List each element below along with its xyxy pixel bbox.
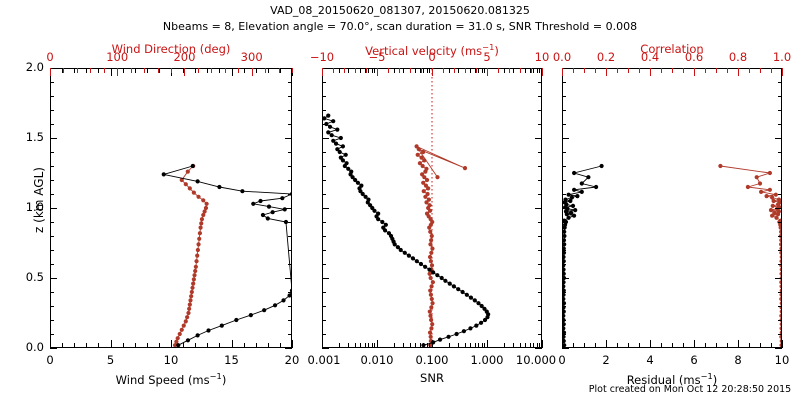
panel1-wind-speed-minor-tick-top [123, 68, 124, 73]
panel2-w-tick-label: −10 [310, 50, 334, 64]
y-minor-tick [322, 180, 326, 181]
data-point [344, 161, 348, 165]
panel2-snr-minor-tick [365, 343, 366, 348]
panel2-snr-major-tick [487, 340, 488, 348]
y-minor-tick [562, 110, 566, 111]
panel1-bottom-axis-label: Wind Speed (ms−1) [116, 371, 227, 387]
y-major-tick [775, 138, 782, 139]
y-minor-tick [778, 110, 782, 111]
data-point [396, 245, 400, 249]
panel2-snr-major-tick [432, 340, 433, 348]
panel1-wind-speed-minor-tick [219, 343, 220, 348]
panel1-wind-dir-tick-label: 200 [173, 50, 195, 64]
y-minor-tick [322, 306, 326, 307]
y-minor-tick [50, 292, 54, 293]
data-point [446, 335, 450, 339]
data-point [563, 310, 566, 314]
panel2-snr-minor-tick [520, 343, 521, 348]
panel1-wind-speed-minor-tick [135, 343, 136, 348]
panel1-wind-dir-major-tick [117, 68, 118, 76]
panel1-top-axis-label: Wind Direction (deg) [112, 42, 231, 56]
data-point [563, 322, 566, 326]
panel2-w-minor-tick [443, 68, 444, 73]
y-minor-tick [778, 166, 782, 167]
y-minor-tick [538, 166, 542, 167]
data-point [563, 242, 566, 246]
data-point [376, 212, 380, 216]
data-point [448, 282, 452, 286]
panel1-wind-dir-major-tick [50, 68, 51, 76]
figure-subtitle: Nbeams = 8, Elevation angle = 70.0°, sca… [163, 20, 637, 33]
panel1-wind-dir-minor-tick [171, 68, 172, 73]
panel1-wind-speed-minor-tick-top [147, 68, 148, 73]
panel1-wind-speed-tick-label: 5 [107, 353, 114, 367]
y-minor-tick [538, 236, 542, 237]
data-point [411, 256, 415, 260]
panel2-snr-minor-tick-top [484, 68, 485, 73]
data-point [468, 326, 472, 330]
panel2-snr-minor-tick-top [504, 68, 505, 73]
data-point [206, 328, 210, 332]
y-minor-tick [288, 264, 292, 265]
panel3-correlation-minor-tick [771, 68, 772, 73]
data-point [431, 270, 435, 274]
y-major-tick [50, 68, 57, 69]
panel2-snr-minor-tick [394, 343, 395, 348]
panel2-snr-tick-label: 10.000 [516, 353, 556, 367]
y-minor-tick [538, 250, 542, 251]
y-minor-tick [538, 82, 542, 83]
y-tick-label: 1.0 [0, 200, 44, 214]
panel2-snr-minor-tick-top [470, 68, 471, 73]
panel2-snr-minor-tick [530, 343, 531, 348]
y-major-tick [775, 278, 782, 279]
panel2-w-tick-label: 5 [483, 50, 490, 64]
panel1-wind-speed-major-tick [292, 340, 293, 348]
data-point [196, 179, 200, 183]
panel1-wind-dir-minor-tick [292, 68, 293, 73]
panel1-wind-dir-minor-tick [198, 68, 199, 73]
data-point [403, 251, 407, 255]
panel2-w-major-tick [487, 68, 488, 76]
panel3-residual-minor-tick [683, 343, 684, 348]
data-point [435, 273, 439, 277]
y-minor-tick [562, 292, 566, 293]
panel3-correlation-major-tick [694, 68, 695, 76]
panel3-correlation-minor-tick [760, 68, 761, 73]
panel2-snr-minor-tick-top [458, 68, 459, 73]
y-minor-tick [50, 320, 54, 321]
panel3-residual-major-tick [738, 340, 739, 348]
panel2-w-major-tick [322, 68, 323, 76]
data-point [570, 195, 574, 199]
data-point [563, 272, 566, 276]
data-point [476, 301, 480, 305]
panel2-w-tick-label: 10 [535, 50, 550, 64]
y-minor-tick [538, 320, 542, 321]
y-major-tick [562, 68, 569, 69]
data-point [563, 343, 566, 347]
panel2-w-minor-tick [509, 68, 510, 73]
panel1-wind-dir-minor-tick [90, 68, 91, 73]
y-minor-tick [50, 110, 54, 111]
panel2-snr-minor-tick-top [394, 68, 395, 73]
y-minor-tick [562, 124, 566, 125]
data-point [563, 268, 566, 272]
panel1-wind-speed-minor-tick [256, 343, 257, 348]
y-minor-tick [562, 180, 566, 181]
data-point [251, 202, 255, 206]
panel2-w-minor-tick [421, 68, 422, 73]
y-minor-tick [50, 334, 54, 335]
y-minor-tick [288, 306, 292, 307]
data-point [427, 268, 431, 272]
panel3-residual-minor-tick [771, 343, 772, 348]
data-point [330, 133, 334, 137]
y-minor-tick [288, 222, 292, 223]
panel2-snr-minor-tick-top [533, 68, 534, 73]
panel3-residual-minor-tick [639, 343, 640, 348]
y-minor-tick [322, 124, 326, 125]
panel3-residual-minor-tick [595, 343, 596, 348]
panel1-wind-speed-major-tick [232, 340, 233, 348]
data-point [580, 181, 584, 185]
data-point [326, 130, 330, 134]
y-minor-tick [778, 292, 782, 293]
y-minor-tick [50, 96, 54, 97]
panel1-wind-speed-tick-label: 0 [46, 353, 53, 367]
panel2-snr-minor-tick [368, 343, 369, 348]
y-minor-tick [778, 124, 782, 125]
y-major-tick [562, 138, 569, 139]
y-minor-tick [288, 334, 292, 335]
panel2-w-minor-tick [454, 68, 455, 73]
panel2-snr-minor-tick-top [403, 68, 404, 73]
panel1-wind-speed-major-tick [171, 340, 172, 348]
y-minor-tick [538, 222, 542, 223]
data-point [443, 279, 447, 283]
panel3-residual-minor-tick [617, 343, 618, 348]
panel3-correlation-major-tick [606, 68, 607, 76]
panel2-snr-tick-label: 0.001 [308, 353, 341, 367]
panel3-residual-major-tick [562, 340, 563, 348]
data-point [563, 255, 566, 259]
y-minor-tick [538, 194, 542, 195]
panel2-snr-minor-tick [475, 343, 476, 348]
panel-residual [562, 68, 782, 348]
data-point [261, 213, 265, 217]
figure-title: VAD_08_20150620_081307, 20150620.081325 [270, 4, 530, 17]
panel1-wind-dir-minor-tick [225, 68, 226, 73]
panel3-correlation-minor-tick [573, 68, 574, 73]
panel3-correlation-minor-tick [749, 68, 750, 73]
panel1-wind-speed-minor-tick-top [207, 68, 208, 73]
y-tick-label: 0.0 [0, 340, 44, 354]
panel2-snr-minor-tick [449, 343, 450, 348]
data-point [469, 296, 473, 300]
panel1-wind-dir-minor-tick [131, 68, 132, 73]
panel2-w-major-tick [542, 68, 543, 76]
panel3-residual-tick-label: 6 [690, 353, 697, 367]
panel2-w-minor-tick [366, 68, 367, 73]
data-point [346, 167, 350, 171]
panel3-correlation-tick-label: 0.0 [553, 50, 571, 64]
data-point [281, 298, 285, 302]
data-point [341, 144, 345, 148]
panel1-wind-dir-minor-tick [144, 68, 145, 73]
panel2-w-minor-tick [388, 68, 389, 73]
panel1-wind-dir-minor-tick [77, 68, 78, 73]
data-point [220, 324, 224, 328]
panel1-wind-speed-minor-tick-top [219, 68, 220, 73]
panel2-snr-minor-tick [478, 343, 479, 348]
panel2-snr-minor-tick [374, 343, 375, 348]
y-minor-tick [562, 236, 566, 237]
data-point [594, 185, 598, 189]
panel-snr [322, 68, 542, 348]
panel1-wind-speed-minor-tick [74, 343, 75, 348]
y-minor-tick [778, 152, 782, 153]
y-minor-tick [538, 306, 542, 307]
panel3-correlation-minor-tick [727, 68, 728, 73]
panel1-wind-dir-minor-tick [158, 68, 159, 73]
panel2-snr-tick-label: 0.100 [416, 353, 449, 367]
y-major-tick [562, 208, 569, 209]
panel2-snr-minor-tick [482, 343, 483, 348]
y-major-tick [50, 208, 57, 209]
data-point [331, 119, 335, 123]
y-minor-tick [778, 250, 782, 251]
panel3-residual-minor-tick [628, 343, 629, 348]
y-major-tick [322, 348, 329, 349]
data-point [563, 280, 566, 284]
panel2-w-major-tick [432, 68, 433, 76]
panel2-snr-minor-tick [372, 343, 373, 348]
data-point [191, 164, 195, 168]
data-point [335, 128, 339, 132]
panel2-snr-minor-tick [427, 343, 428, 348]
panel2-snr-minor-tick [420, 343, 421, 348]
panel-wind [50, 68, 292, 348]
y-major-tick [775, 208, 782, 209]
panel3-residual-major-tick [694, 340, 695, 348]
y-minor-tick [288, 124, 292, 125]
y-minor-tick [50, 306, 54, 307]
data-point [339, 136, 343, 140]
y-minor-tick [288, 96, 292, 97]
y-minor-tick [562, 82, 566, 83]
panel2-w-minor-tick [399, 68, 400, 73]
panel3-correlation-minor-tick [672, 68, 673, 73]
y-minor-tick [322, 166, 326, 167]
panel1-wind-speed-minor-tick [280, 343, 281, 348]
panel2-w-minor-tick [410, 68, 411, 73]
y-minor-tick [778, 306, 782, 307]
y-minor-tick [288, 236, 292, 237]
panel3-residual-tick-label: 10 [775, 353, 790, 367]
data-point [580, 190, 584, 194]
panel1-wind-speed-minor-tick [159, 343, 160, 348]
panel2-snr-minor-tick-top [513, 68, 514, 73]
panel3-correlation-major-tick [738, 68, 739, 76]
y-minor-tick [322, 194, 326, 195]
y-minor-tick [562, 166, 566, 167]
panel2-snr-minor-tick [339, 343, 340, 348]
data-point [563, 314, 565, 318]
panel1-wind-speed-minor-tick [268, 343, 269, 348]
data-point [479, 321, 483, 325]
panel2-snr-major-tick [377, 340, 378, 348]
y-major-tick [50, 138, 57, 139]
data-point [384, 223, 388, 227]
panel3-correlation-tick-label: 0.2 [597, 50, 615, 64]
panel1-wind-speed-major-tick-top [111, 68, 112, 76]
panel3-residual-minor-tick [573, 343, 574, 348]
panel3-bottom-axis-label: Residual (ms−1) [627, 371, 718, 387]
panel2-snr-minor-tick-top [372, 68, 373, 73]
panel1-wind-dir-tick-label: 0 [46, 50, 53, 64]
panel3-correlation-minor-tick [661, 68, 662, 73]
data-point [462, 329, 466, 333]
panel2-snr-minor-tick [537, 343, 538, 348]
panel3-residual-major-tick [782, 340, 783, 348]
panel2-snr-tick-label: 0.010 [361, 353, 394, 367]
y-minor-tick [538, 292, 542, 293]
y-minor-tick [50, 180, 54, 181]
y-minor-tick [562, 264, 566, 265]
y-minor-tick [50, 250, 54, 251]
panel1-wind-speed-minor-tick [98, 343, 99, 348]
panel2-snr-tick-label: 1.000 [471, 353, 504, 367]
panel3-correlation-tick-label: 0.4 [641, 50, 659, 64]
panel1-wind-speed-minor-tick-top [135, 68, 136, 73]
panel2-snr-minor-tick [360, 343, 361, 348]
series-snr [323, 69, 541, 347]
data-point [423, 265, 427, 269]
data-point [407, 254, 411, 258]
panel2-snr-minor-tick-top [539, 68, 540, 73]
data-point [240, 189, 244, 193]
y-major-tick [285, 278, 292, 279]
y-minor-tick [288, 180, 292, 181]
vad-profile-figure: VAD_08_20150620_081307, 20150620.081325 … [0, 0, 800, 400]
y-minor-tick [778, 180, 782, 181]
data-point [335, 147, 339, 151]
panel3-residual-minor-tick [705, 343, 706, 348]
y-minor-tick [322, 82, 326, 83]
y-minor-tick [50, 82, 54, 83]
panel1-wind-speed-major-tick [50, 340, 51, 348]
panel1-wind-speed-minor-tick-top [256, 68, 257, 73]
panel1-wind-speed-minor-tick [147, 343, 148, 348]
panel1-wind-speed-minor-tick-top [74, 68, 75, 73]
panel1-wind-dir-major-tick [252, 68, 253, 76]
data-point [266, 216, 270, 220]
data-point [234, 318, 238, 322]
panel2-w-tick-label: −5 [369, 50, 386, 64]
y-minor-tick [538, 180, 542, 181]
panel1-wind-speed-tick-label: 15 [224, 353, 239, 367]
panel3-correlation-tick-label: 0.6 [685, 50, 703, 64]
y-minor-tick [322, 236, 326, 237]
data-point [474, 324, 478, 328]
y-minor-tick [778, 194, 782, 195]
panel2-snr-minor-tick [525, 343, 526, 348]
panel2-snr-major-tick [322, 340, 323, 348]
panel1-wind-speed-minor-tick [207, 343, 208, 348]
panel3-residual-tick-label: 0 [558, 353, 565, 367]
y-minor-tick [50, 152, 54, 153]
data-point [359, 184, 363, 188]
data-point [572, 171, 576, 175]
panel1-wind-speed-minor-tick-top [86, 68, 87, 73]
panel3-residual-minor-tick [727, 343, 728, 348]
data-point [473, 298, 477, 302]
data-point [380, 220, 384, 224]
series-residual [563, 69, 781, 347]
panel3-correlation-major-tick [650, 68, 651, 76]
y-tick-label: 0.5 [0, 270, 44, 284]
panel3-residual-minor-tick [716, 343, 717, 348]
panel2-w-minor-tick [355, 68, 356, 73]
data-point [280, 196, 284, 200]
y-major-tick [322, 138, 329, 139]
panel2-snr-minor-tick-top [368, 68, 369, 73]
data-point [328, 125, 332, 129]
data-point [586, 175, 590, 179]
data-point [452, 284, 456, 288]
y-major-tick [535, 208, 542, 209]
panel3-correlation-major-tick [562, 68, 563, 76]
panel2-snr-minor-tick [355, 343, 356, 348]
panel1-wind-speed-minor-tick-top [268, 68, 269, 73]
data-point [563, 251, 566, 255]
y-minor-tick [50, 264, 54, 265]
panel3-residual-minor-tick [584, 343, 585, 348]
y-major-tick [535, 278, 542, 279]
panel2-snr-minor-tick-top [348, 68, 349, 73]
y-minor-tick [322, 292, 326, 293]
data-point [271, 210, 275, 214]
y-minor-tick [322, 320, 326, 321]
panel3-residual-tick-label: 4 [646, 353, 653, 367]
panel2-snr-minor-tick [415, 343, 416, 348]
y-minor-tick [562, 320, 566, 321]
panel2-snr-minor-tick [423, 343, 424, 348]
panel2-snr-minor-tick-top [374, 68, 375, 73]
y-minor-tick [50, 194, 54, 195]
y-minor-tick [778, 96, 782, 97]
y-tick-label: 1.5 [0, 130, 44, 144]
y-major-tick [50, 348, 57, 349]
panel1-wind-speed-major-tick-top [232, 68, 233, 76]
data-point [573, 208, 577, 212]
data-point [331, 139, 335, 143]
y-major-tick [562, 278, 569, 279]
panel1-wind-speed-minor-tick [62, 343, 63, 348]
panel2-snr-minor-tick-top [360, 68, 361, 73]
panel1-wind-speed-minor-tick [123, 343, 124, 348]
series-line [164, 166, 291, 345]
data-point [563, 335, 566, 339]
data-point [440, 276, 444, 280]
panel2-snr-minor-tick [429, 343, 430, 348]
panel2-snr-minor-tick-top [537, 68, 538, 73]
y-minor-tick [778, 222, 782, 223]
y-minor-tick [50, 222, 54, 223]
data-point [480, 304, 484, 308]
panel3-correlation-minor-tick [584, 68, 585, 73]
